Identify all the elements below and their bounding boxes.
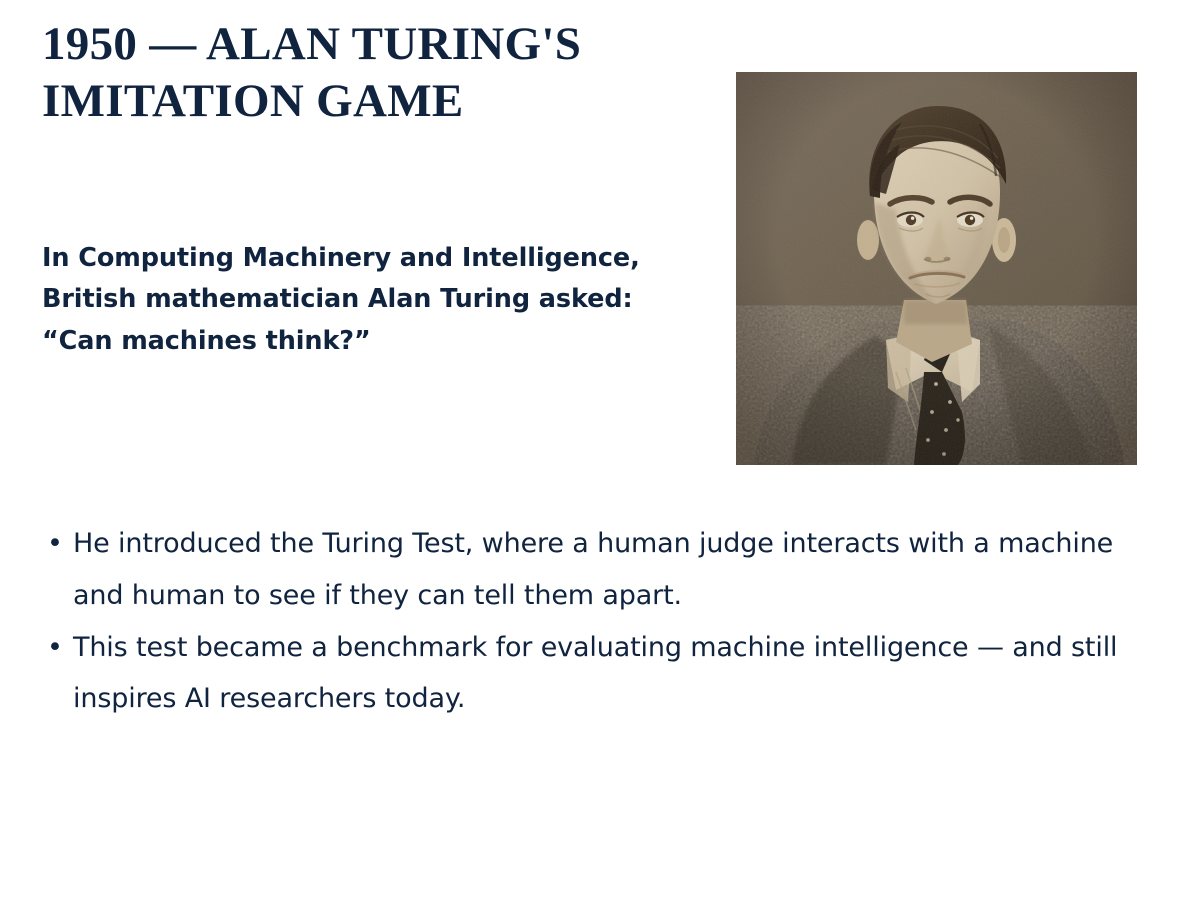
alan-turing-portrait	[736, 72, 1137, 465]
slide-canvas: 1950 — ALAN TURING'S IMITATION GAME In C…	[0, 0, 1200, 900]
list-item: • He introduced the Turing Test, where a…	[42, 518, 1152, 622]
slide-subtitle: In Computing Machinery and Intelligence,…	[42, 238, 702, 362]
list-item-text: This test became a benchmark for evaluat…	[73, 632, 1117, 715]
bullet-marker-icon: •	[47, 518, 63, 570]
bullet-list: • He introduced the Turing Test, where a…	[42, 518, 1152, 725]
portrait-illustration	[736, 72, 1137, 465]
page-title: 1950 — ALAN TURING'S IMITATION GAME	[42, 16, 732, 131]
bullet-marker-icon: •	[47, 622, 63, 674]
list-item-text: He introduced the Turing Test, where a h…	[73, 528, 1113, 611]
list-item: • This test became a benchmark for evalu…	[42, 622, 1152, 726]
